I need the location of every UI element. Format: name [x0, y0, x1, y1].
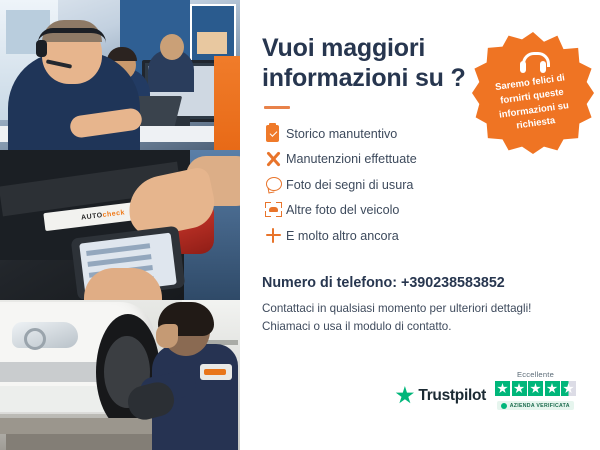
trustpilot-rating: Eccellente AZIENDA VERIFICATA: [495, 370, 576, 410]
photo-vehicle-inspection: AUTOcheck: [0, 150, 240, 300]
feature-label: Altre foto del veicolo: [286, 203, 399, 217]
car-scan-icon: [262, 200, 286, 220]
sticker-text-b: check: [102, 209, 125, 219]
sticker-text-a: AUTO: [81, 212, 103, 222]
verified-label: AZIENDA VERIFICATA: [510, 403, 570, 409]
contact-instructions: Contattaci in qualsiasi momento per ulte…: [262, 300, 574, 338]
photo-column: AUTOcheck: [0, 0, 240, 450]
clipboard-check-icon: [262, 124, 286, 144]
orange-accent-strip: [214, 56, 240, 150]
star-icon-half: [561, 381, 576, 396]
background-colleague-2-head: [160, 34, 184, 60]
promo-banner: AUTOcheck: [0, 0, 600, 450]
list-item: Foto dei segni di usura: [262, 172, 574, 198]
plus-icon: [262, 226, 286, 246]
headset-earcup-icon: [36, 40, 47, 57]
verified-check-icon: [501, 403, 507, 409]
lift-platform-lower: [6, 434, 156, 450]
feature-label: Storico manutentivo: [286, 127, 397, 141]
page-title: Vuoi maggiori informazioni su ?: [262, 34, 477, 93]
trustpilot-logo: Trustpilot: [395, 386, 486, 410]
star-icon: [512, 381, 527, 396]
tools-cross-icon: [262, 149, 286, 169]
phone-number-line[interactable]: Numero di telefono: +390238583852: [262, 275, 574, 291]
star-rating: [495, 381, 576, 396]
photo-call-center: [0, 0, 240, 150]
lift-platform: [0, 418, 176, 434]
list-item: E molto altro ancora: [262, 223, 574, 249]
list-item: Altre foto del veicolo: [262, 198, 574, 224]
star-icon: [528, 381, 543, 396]
photo-mechanic-wheel: [0, 300, 240, 450]
headset-icon: [520, 52, 546, 76]
mechanic-uniform-badge: [200, 364, 232, 380]
star-icon: [545, 381, 560, 396]
verified-company-badge: AZIENDA VERIFICATA: [497, 401, 574, 410]
wall-poster: [190, 4, 236, 62]
mechanic-face: [156, 324, 178, 348]
trustpilot-widget[interactable]: Trustpilot Eccellente AZIENDA VERIFICATA: [395, 370, 576, 410]
headset-band-icon: [38, 28, 106, 43]
headset-earcup-right: [540, 61, 546, 73]
callout-burst-badge: Saremo felici di fornirti queste informa…: [472, 32, 594, 154]
headset-earcup-left: [520, 61, 526, 73]
title-underline-rule: [264, 106, 290, 109]
trustpilot-name: Trustpilot: [418, 387, 486, 405]
feature-label: E molto altro ancora: [286, 229, 399, 243]
feature-label: Manutenzioni effettuate: [286, 152, 417, 166]
rating-caption: Eccellente: [517, 370, 554, 379]
star-icon: [495, 381, 510, 396]
contact-line-2: Chiamaci o usa il modulo di contatto.: [262, 318, 574, 337]
feature-label: Foto dei segni di usura: [286, 178, 413, 192]
trustpilot-star-icon: [395, 386, 414, 405]
content-panel: Vuoi maggiori informazioni su ? Saremo f…: [240, 0, 600, 450]
car-headlight: [12, 322, 78, 348]
contact-line-1: Contattaci in qualsiasi momento per ulte…: [262, 300, 574, 319]
speech-search-icon: [262, 175, 286, 195]
